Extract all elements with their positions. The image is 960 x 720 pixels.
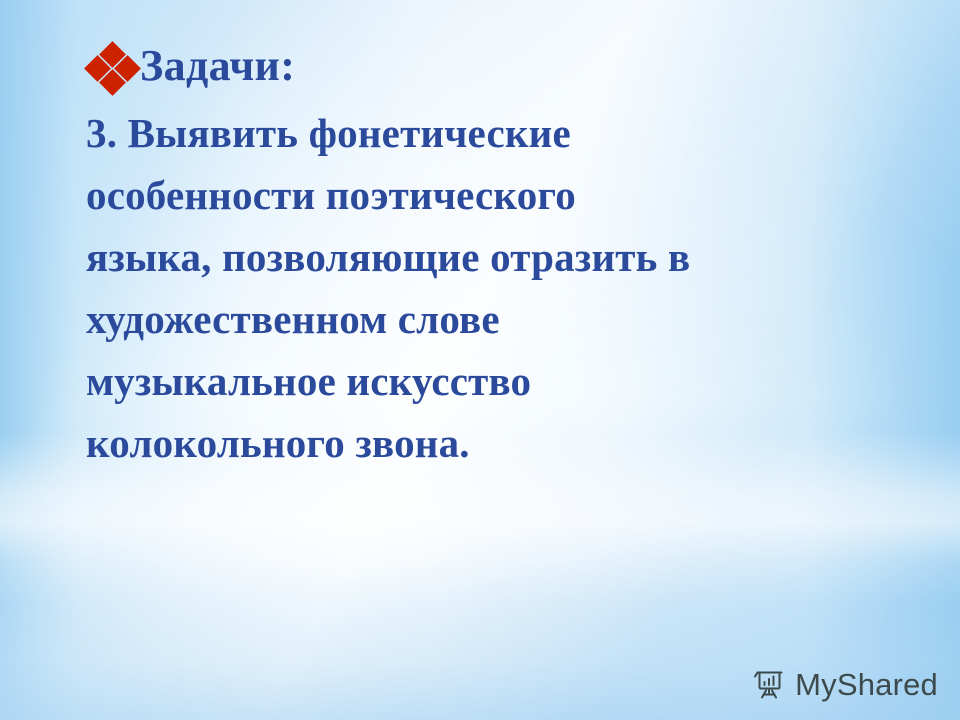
body-line: художественном слове bbox=[86, 288, 916, 350]
heading-row: Задачи: bbox=[86, 38, 916, 100]
slide-canvas: Задачи: 3. Выявить фонетические особенно… bbox=[0, 0, 960, 720]
body-line: колокольного звона. bbox=[86, 412, 916, 474]
body-line: особенности поэтического bbox=[86, 164, 916, 226]
diamond-cluster-bullet-icon bbox=[88, 44, 140, 96]
body-line: языка, позволяющие отразить в bbox=[86, 226, 916, 288]
body-line: музыкальное искусство bbox=[86, 350, 916, 412]
slide-heading: Задачи: bbox=[140, 38, 295, 94]
slide-body-text: 3. Выявить фонетические особенности поэт… bbox=[86, 102, 916, 474]
body-line: 3. Выявить фонетические bbox=[86, 102, 916, 164]
slide-content: Задачи: 3. Выявить фонетические особенно… bbox=[86, 38, 916, 474]
myshared-label: MyShared bbox=[795, 668, 938, 702]
presentation-board-chart-icon bbox=[752, 668, 786, 702]
myshared-watermark[interactable]: MyShared bbox=[752, 668, 938, 702]
